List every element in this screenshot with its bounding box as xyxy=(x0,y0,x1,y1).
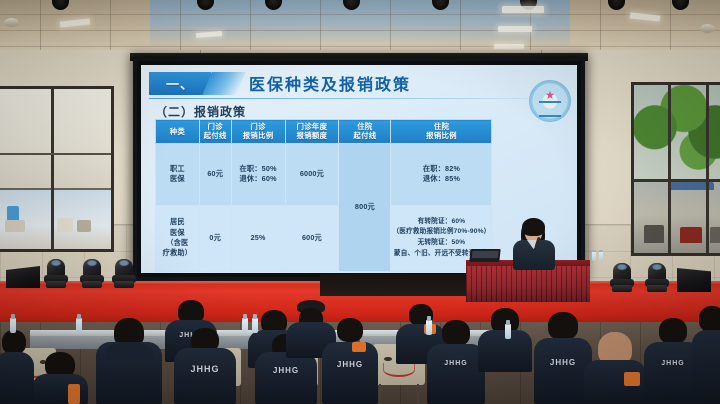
orange-collar xyxy=(352,342,366,352)
jacket-logo-text: JHHG xyxy=(661,360,684,367)
person-jacket xyxy=(0,352,34,404)
table-row: 居民医保（含医疗救助） 0元 25% 600元 有转院证：60% xyxy=(156,205,492,271)
water-bottle xyxy=(252,318,258,333)
moving-head-light xyxy=(80,258,104,288)
cell-inpatient-rate-employee: 在职：82%退休：85% xyxy=(391,143,492,205)
col-header-outpatient-deductible: 门诊起付线 xyxy=(199,120,231,144)
water-bottle xyxy=(76,318,82,333)
person-jacket: JHHG xyxy=(174,348,236,404)
cell-outpatient-deductible-employee: 60元 xyxy=(199,143,231,205)
window-mullion xyxy=(51,89,54,249)
slide-subtitle: （二）报销政策 xyxy=(155,103,246,120)
audience-member xyxy=(692,306,720,404)
water-bottle xyxy=(242,318,248,333)
title-underline xyxy=(149,98,567,99)
ceiling-panel-light xyxy=(502,6,544,13)
water-bottle xyxy=(592,250,596,261)
audience-member xyxy=(584,332,646,404)
presenter xyxy=(505,218,565,278)
col-header-outpatient-rate: 门诊报销比例 xyxy=(231,120,285,144)
person-head xyxy=(2,330,26,354)
scooter xyxy=(680,227,702,243)
slide-title-row: 一、 医保种类及报销政策 xyxy=(149,71,567,97)
ceiling-panel-light xyxy=(498,26,532,32)
reimbursement-policy-table: 种类 门诊起付线 门诊报销比例 门诊年度报销额度 住院起付线 xyxy=(155,119,492,272)
window-right xyxy=(631,82,720,256)
water-bottle xyxy=(599,250,603,261)
audience-member xyxy=(96,318,162,404)
audience-member: JHHG xyxy=(322,318,378,404)
audience-member xyxy=(0,330,34,404)
table-header-row: 种类 门诊起付线 门诊报销比例 门诊年度报销额度 住院起付线 xyxy=(156,120,492,144)
stage-step xyxy=(320,274,470,296)
person-jacket: JHHG xyxy=(255,352,317,404)
cell-category-employee: 职工医保 xyxy=(156,143,200,205)
water-bottle xyxy=(426,320,432,335)
stage-monitor-speaker xyxy=(677,268,711,292)
window-mullion xyxy=(634,179,720,182)
jacket-logo-text: JHHG xyxy=(444,360,467,367)
scooter xyxy=(710,227,720,243)
water-bottle xyxy=(505,324,511,339)
smoke-detector-icon xyxy=(700,24,715,33)
moving-head-light xyxy=(44,258,68,288)
moving-head-light xyxy=(112,258,136,288)
slide-title: 医保种类及报销政策 xyxy=(249,71,411,95)
moving-head-light xyxy=(610,262,634,292)
moving-head-light xyxy=(645,262,669,292)
jacket-logo-text: JHHG xyxy=(550,358,576,367)
person-head xyxy=(699,306,720,332)
cell-outpatient-deductible-resident: 0元 xyxy=(199,205,231,271)
scooter xyxy=(644,225,664,243)
col-header-category: 种类 xyxy=(156,120,200,144)
cell-category-resident: 居民医保（含医疗救助） xyxy=(156,205,200,271)
person-jacket: JHHG xyxy=(427,344,485,404)
conference-hall-scene: 一、 医保种类及报销政策 （二）报销政策 种类 xyxy=(0,0,720,404)
laptop xyxy=(469,249,500,262)
orange-collar xyxy=(624,372,640,386)
person-head xyxy=(337,318,363,342)
person-head xyxy=(548,312,578,340)
cell-outpatient-rate-resident: 25% xyxy=(231,205,285,271)
window-mullion xyxy=(706,85,709,253)
person-head xyxy=(659,318,687,344)
ceiling-panel-light xyxy=(494,44,524,49)
col-header-outpatient-cap: 门诊年度报销额度 xyxy=(285,120,339,144)
audience-member: JHHG xyxy=(174,328,236,404)
cell-inpatient-deductible-merged: 800元 xyxy=(339,143,391,271)
chair-legs xyxy=(379,384,419,404)
col-header-inpatient-deductible: 住院起付线 xyxy=(339,120,391,144)
section-number-badge: 一、 xyxy=(149,72,211,95)
presenter-hair xyxy=(522,218,545,236)
section-number-text: 一、 xyxy=(166,74,194,93)
window-mullion xyxy=(668,85,671,253)
window-mullion xyxy=(0,153,111,155)
person-head xyxy=(442,320,470,346)
window-left xyxy=(0,86,114,252)
jacket-hood xyxy=(105,342,153,361)
orange-vest xyxy=(68,384,80,404)
person-jacket xyxy=(96,342,162,404)
audience-member xyxy=(32,352,88,404)
cell-outpatient-cap-resident: 600元 xyxy=(285,205,339,271)
person-jacket xyxy=(692,330,720,404)
window-blind xyxy=(0,89,111,190)
person-jacket: JHHG xyxy=(322,342,378,404)
audience-member: JHHG xyxy=(427,320,485,404)
jacket-logo-text: JHHG xyxy=(190,364,219,374)
water-bottle xyxy=(10,318,16,333)
col-header-inpatient-rate: 住院报销比例 xyxy=(391,120,492,144)
jacket-logo-text: JHHG xyxy=(337,360,363,369)
cell-outpatient-rate-employee: 在职：50%退休：60% xyxy=(231,143,285,205)
institution-emblem-icon xyxy=(529,80,571,122)
window-glass xyxy=(0,190,111,249)
jacket-logo-text: JHHG xyxy=(273,366,299,375)
table-row: 职工医保 60元 在职：50%退休：60% 6000元 800元 xyxy=(156,143,492,205)
smoke-detector-icon xyxy=(4,18,19,27)
audience-member xyxy=(478,308,532,372)
cell-outpatient-cap-employee: 6000元 xyxy=(285,143,339,205)
